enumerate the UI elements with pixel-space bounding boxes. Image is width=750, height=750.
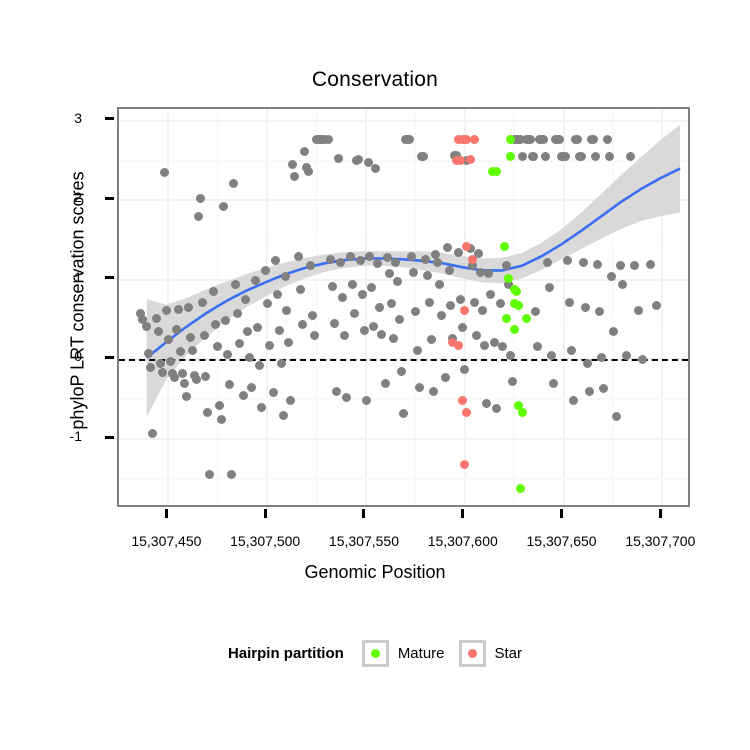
data-point-other <box>555 135 564 144</box>
x-tick-mark <box>560 509 563 518</box>
data-point-other <box>251 276 260 285</box>
data-point-other <box>217 415 226 424</box>
data-point-other <box>585 387 594 396</box>
data-point-other <box>508 377 517 386</box>
data-point-other <box>369 322 378 331</box>
data-point-other <box>194 212 203 221</box>
data-point-other <box>294 252 303 261</box>
data-point-other <box>358 290 367 299</box>
data-point-other <box>409 268 418 277</box>
data-point-other <box>593 260 602 269</box>
data-point-other <box>233 309 242 318</box>
data-point-other <box>415 383 424 392</box>
y-tick-label: -1 <box>42 428 82 444</box>
data-point-mature <box>514 301 523 310</box>
data-point-other <box>652 301 661 310</box>
data-point-other <box>231 280 240 289</box>
legend-dot-icon <box>371 649 380 658</box>
data-point-other <box>332 387 341 396</box>
data-point-other <box>579 258 588 267</box>
data-point-mature <box>522 314 531 323</box>
data-point-other <box>281 272 290 281</box>
data-point-other <box>156 359 165 368</box>
data-point-other <box>277 359 286 368</box>
data-point-other <box>196 194 205 203</box>
y-tick-mark <box>105 436 114 439</box>
data-point-other <box>326 255 335 264</box>
loess-smoother <box>119 109 690 507</box>
data-point-other <box>324 135 333 144</box>
data-point-other <box>275 326 284 335</box>
x-tick-label: 15,307,550 <box>309 533 419 549</box>
data-point-star <box>460 306 469 315</box>
data-point-other <box>265 341 274 350</box>
data-point-other <box>589 135 598 144</box>
data-point-other <box>162 306 171 315</box>
data-point-other <box>247 383 256 392</box>
data-point-other <box>441 373 450 382</box>
y-tick-mark <box>105 276 114 279</box>
data-point-other <box>435 280 444 289</box>
data-point-other <box>583 359 592 368</box>
data-point-other <box>174 305 183 314</box>
data-point-other <box>328 282 337 291</box>
data-point-other <box>158 368 167 377</box>
data-point-other <box>397 367 406 376</box>
data-point-mature <box>504 274 513 283</box>
legend-items: MatureStar <box>362 640 522 667</box>
data-point-other <box>618 280 627 289</box>
x-tick-label: 15,307,650 <box>507 533 617 549</box>
data-point-other <box>269 388 278 397</box>
data-point-other <box>599 384 608 393</box>
data-point-mature <box>506 152 515 161</box>
x-axis-title: Genomic Position <box>0 562 750 583</box>
data-point-other <box>356 256 365 265</box>
data-point-other <box>273 290 282 299</box>
chart-title: Conservation <box>0 68 750 92</box>
data-point-mature <box>506 135 515 144</box>
x-tick-label: 15,307,450 <box>111 533 221 549</box>
data-point-other <box>144 349 153 358</box>
y-tick-label: 1 <box>42 269 82 285</box>
data-point-other <box>405 135 414 144</box>
data-point-other <box>279 411 288 420</box>
data-point-other <box>350 309 359 318</box>
data-point-other <box>425 298 434 307</box>
data-point-star <box>454 341 463 350</box>
data-point-other <box>336 258 345 267</box>
data-point-other <box>609 327 618 336</box>
data-point-other <box>219 202 228 211</box>
data-point-mature <box>516 484 525 493</box>
data-point-other <box>360 326 369 335</box>
y-tick-mark <box>105 197 114 200</box>
data-point-other <box>257 403 266 412</box>
data-point-other <box>518 152 527 161</box>
data-point-other <box>445 266 454 275</box>
legend-key-swatch <box>459 640 486 667</box>
data-point-other <box>354 155 363 164</box>
data-point-other <box>225 380 234 389</box>
data-point-other <box>470 298 479 307</box>
y-tick-label: 2 <box>42 189 82 205</box>
data-point-other <box>565 298 574 307</box>
data-point-other <box>184 303 193 312</box>
data-point-other <box>486 290 495 299</box>
data-point-other <box>203 408 212 417</box>
x-tick-mark <box>165 509 168 518</box>
legend-item-mature[interactable]: Mature <box>362 640 445 667</box>
data-point-other <box>186 333 195 342</box>
data-point-other <box>567 346 576 355</box>
data-point-star <box>470 135 479 144</box>
data-point-other <box>172 325 181 334</box>
x-tick-label: 15,307,500 <box>210 533 320 549</box>
data-point-other <box>334 154 343 163</box>
data-point-other <box>261 266 270 275</box>
data-point-other <box>178 369 187 378</box>
data-point-other <box>478 306 487 315</box>
chart-root: Conservation phyloP LRT conservation sco… <box>0 0 750 750</box>
data-point-other <box>413 346 422 355</box>
data-point-other <box>526 135 535 144</box>
data-point-mature <box>510 325 519 334</box>
data-point-other <box>603 135 612 144</box>
data-point-other <box>563 256 572 265</box>
data-point-other <box>192 375 201 384</box>
data-point-other <box>365 252 374 261</box>
data-point-other <box>271 256 280 265</box>
data-point-other <box>591 152 600 161</box>
legend-title: Hairpin partition <box>228 645 344 662</box>
legend-key-swatch <box>362 640 389 667</box>
x-tick-mark <box>461 509 464 518</box>
data-point-other <box>342 393 351 402</box>
data-point-other <box>263 299 272 308</box>
legend: Hairpin partition MatureStar <box>0 640 750 667</box>
data-point-other <box>427 335 436 344</box>
legend-label: Mature <box>398 645 445 662</box>
legend-item-star[interactable]: Star <box>459 640 523 667</box>
data-point-other <box>634 306 643 315</box>
data-point-other <box>502 261 511 270</box>
data-point-other <box>176 347 185 356</box>
data-point-star <box>468 255 477 264</box>
data-point-other <box>253 323 262 332</box>
data-point-other <box>595 307 604 316</box>
data-point-other <box>607 272 616 281</box>
data-point-other <box>573 135 582 144</box>
data-point-other <box>198 298 207 307</box>
data-point-other <box>407 252 416 261</box>
x-tick-mark <box>264 509 267 518</box>
data-point-other <box>284 338 293 347</box>
data-point-other <box>209 287 218 296</box>
plot-panel <box>117 107 690 507</box>
data-point-other <box>437 311 446 320</box>
data-point-other <box>443 243 452 252</box>
data-point-mature <box>500 242 509 251</box>
x-tick-label: 15,307,700 <box>605 533 715 549</box>
data-point-other <box>605 152 614 161</box>
data-point-other <box>200 331 209 340</box>
data-point-other <box>377 330 386 339</box>
y-tick-label: 3 <box>42 110 82 126</box>
data-point-other <box>433 258 442 267</box>
data-point-other <box>506 351 515 360</box>
data-point-other <box>239 391 248 400</box>
data-point-other <box>188 346 197 355</box>
x-tick-mark <box>659 509 662 518</box>
data-point-other <box>597 353 606 362</box>
legend-dot-icon <box>468 649 477 658</box>
data-point-other <box>362 396 371 405</box>
data-point-other <box>421 255 430 264</box>
data-point-other <box>166 357 175 366</box>
data-point-other <box>646 260 655 269</box>
data-point-other <box>340 331 349 340</box>
data-point-mature <box>518 408 527 417</box>
data-point-mature <box>512 287 521 296</box>
data-point-star <box>462 408 471 417</box>
data-point-other <box>146 363 155 372</box>
data-point-other <box>346 252 355 261</box>
data-point-other <box>539 135 548 144</box>
data-point-other <box>180 379 189 388</box>
data-point-other <box>429 387 438 396</box>
data-point-other <box>419 152 428 161</box>
data-point-other <box>152 314 161 323</box>
x-tick-label: 15,307,600 <box>408 533 518 549</box>
data-point-other <box>338 293 347 302</box>
data-point-star <box>466 155 475 164</box>
y-tick-mark <box>105 117 114 120</box>
data-point-other <box>164 335 173 344</box>
legend-label: Star <box>495 645 523 662</box>
x-tick-mark <box>362 509 365 518</box>
data-point-other <box>300 147 309 156</box>
data-point-other <box>348 280 357 289</box>
data-point-other <box>460 365 469 374</box>
y-tick-label: 0 <box>42 348 82 364</box>
data-point-other <box>160 168 169 177</box>
data-point-other <box>423 271 432 280</box>
data-point-other <box>229 179 238 188</box>
y-tick-mark <box>105 356 114 359</box>
data-point-mature <box>502 314 511 323</box>
data-point-other <box>482 399 491 408</box>
data-point-other <box>480 341 489 350</box>
